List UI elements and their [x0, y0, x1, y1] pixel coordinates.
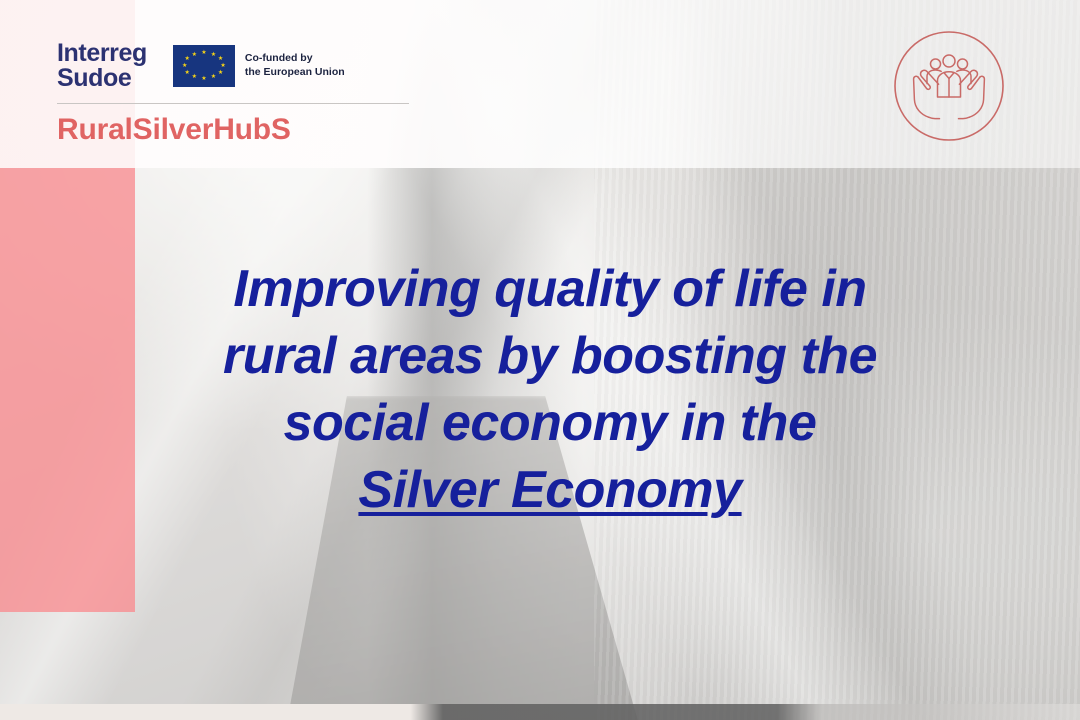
interreg-sudoe-logo: Interreg Sudoe [57, 41, 147, 92]
page-title: Improving quality of life in rural areas… [150, 256, 950, 524]
logo-divider [57, 103, 409, 104]
eu-emblem: ★ ★ ★ ★ ★ ★ ★ ★ ★ ★ ★ ★ Co-funded by the… [173, 45, 345, 87]
pink-accent-rectangle [0, 168, 135, 612]
logo-lockup: Interreg Sudoe ★ ★ ★ ★ ★ ★ ★ ★ ★ ★ ★ ★ C… [57, 36, 409, 147]
eu-flag-icon: ★ ★ ★ ★ ★ ★ ★ ★ ★ ★ ★ ★ [173, 45, 235, 87]
logo-row: Interreg Sudoe ★ ★ ★ ★ ★ ★ ★ ★ ★ ★ ★ ★ C… [57, 36, 409, 96]
headline-line-3: social economy in the [150, 390, 950, 457]
background-bottom-band [0, 704, 1080, 720]
project-name: RuralSilverHubS [57, 113, 409, 147]
poster-canvas: Interreg Sudoe ★ ★ ★ ★ ★ ★ ★ ★ ★ ★ ★ ★ C… [0, 0, 1080, 720]
hands-holding-people-icon [891, 28, 1007, 144]
headline-line-4: Silver Economy [150, 457, 950, 524]
headline-line-2: rural areas by boosting the [150, 323, 950, 390]
eu-funding-text: Co-funded by the European Union [245, 52, 345, 80]
headline-emphasis-silver-economy: Silver Economy [358, 461, 741, 519]
headline-line-1: Improving quality of life in [150, 256, 950, 323]
